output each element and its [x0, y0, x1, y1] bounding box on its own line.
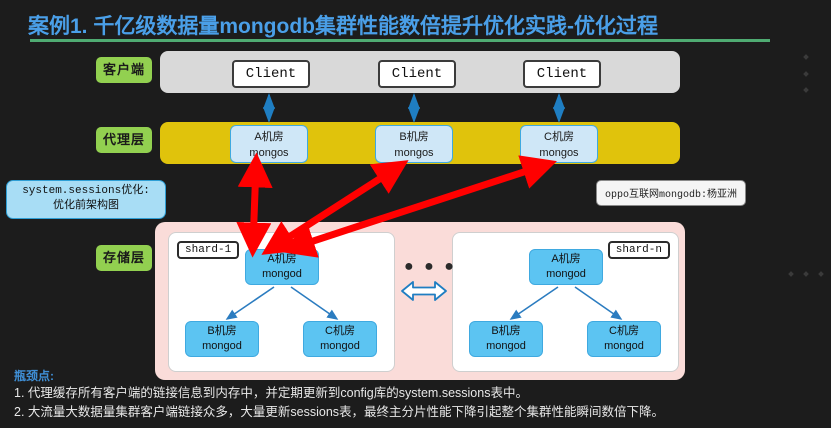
layer-label-proxy: 代理层 [96, 127, 152, 153]
shard-1-mongod-b-room: B机房 [186, 324, 258, 339]
mongos-node-c: C机房 mongos [520, 125, 598, 163]
mongos-b-process: mongos [376, 145, 452, 161]
notes-block: 瓶颈点: 1. 代理缓存所有客户端的链接信息到内存中，并定期更新到config库… [14, 369, 814, 422]
shard-n-mongod-a-room: A机房 [530, 252, 602, 267]
decorative-dot [803, 87, 809, 93]
client-node-3: Client [523, 60, 601, 88]
shard-n-mongod-c-room: C机房 [588, 324, 660, 339]
shard-1-mongod-c: C机房 mongod [303, 321, 377, 357]
note-line-1: 1. 代理缓存所有客户端的链接信息到内存中，并定期更新到config库的syst… [14, 384, 814, 403]
shard-n-mongod-b-process: mongod [470, 339, 542, 354]
shard-1-mongod-a-room: A机房 [246, 252, 318, 267]
decorative-dot [818, 271, 824, 277]
mongos-b-room: B机房 [376, 129, 452, 145]
decorative-dot [803, 271, 809, 277]
shard-card-n: shard-n A机房 mongod B机房 mongod C机房 mongod [452, 232, 679, 372]
shard-1-mongod-b-process: mongod [186, 339, 258, 354]
layer-label-storage: 存储层 [96, 245, 152, 271]
shard-1-mongod-a-process: mongod [246, 267, 318, 282]
shard-1-tag: shard-1 [177, 241, 239, 259]
shard-1-mongod-b: B机房 mongod [185, 321, 259, 357]
shard-n-mongod-b-room: B机房 [470, 324, 542, 339]
shard-n-mongod-a-process: mongod [530, 267, 602, 282]
mongos-a-room: A机房 [231, 129, 307, 145]
layer-label-client: 客户端 [96, 57, 152, 83]
decorative-dot [803, 54, 809, 60]
note-line-2: 2. 大流量大数据量集群客户端链接众多，大量更新sessions表，最终主分片性… [14, 403, 814, 422]
slide-canvas: 案例1. 千亿级数据量mongodb集群性能数倍提升优化实践-优化过程 客户端 … [0, 0, 831, 428]
shard-n-mongod-c-process: mongod [588, 339, 660, 354]
shard-ellipsis: ● ● ● [404, 258, 457, 276]
mongos-a-process: mongos [231, 145, 307, 161]
title-underline [30, 39, 770, 42]
sessions-note-line-2: 优化前架构图 [9, 199, 163, 214]
client-node-1: Client [232, 60, 310, 88]
double-headed-horizontal-arrow-icon [400, 278, 448, 304]
shard-1-mongod-c-process: mongod [304, 339, 376, 354]
author-watermark: oppo互联网mongodb:杨亚洲 [596, 180, 746, 206]
mongos-node-b: B机房 mongos [375, 125, 453, 163]
mongos-c-process: mongos [521, 145, 597, 161]
shard-1-mongod-a: A机房 mongod [245, 249, 319, 285]
shard-card-1: shard-1 A机房 mongod B机房 mongod C机房 mongod [168, 232, 395, 372]
sessions-optimization-note: system.sessions优化: 优化前架构图 [6, 180, 166, 219]
shard-n-tag: shard-n [608, 241, 670, 259]
shard-n-mongod-b: B机房 mongod [469, 321, 543, 357]
notes-heading: 瓶颈点: [14, 369, 814, 384]
shard-1-mongod-c-room: C机房 [304, 324, 376, 339]
decorative-dot [803, 71, 809, 77]
sessions-note-line-1: system.sessions优化: [9, 184, 163, 199]
mongos-node-a: A机房 mongos [230, 125, 308, 163]
shard-n-mongod-a: A机房 mongod [529, 249, 603, 285]
shard-n-mongod-c: C机房 mongod [587, 321, 661, 357]
mongos-c-room: C机房 [521, 129, 597, 145]
decorative-dot [788, 271, 794, 277]
page-title: 案例1. 千亿级数据量mongodb集群性能数倍提升优化实践-优化过程 [28, 10, 658, 40]
client-node-2: Client [378, 60, 456, 88]
